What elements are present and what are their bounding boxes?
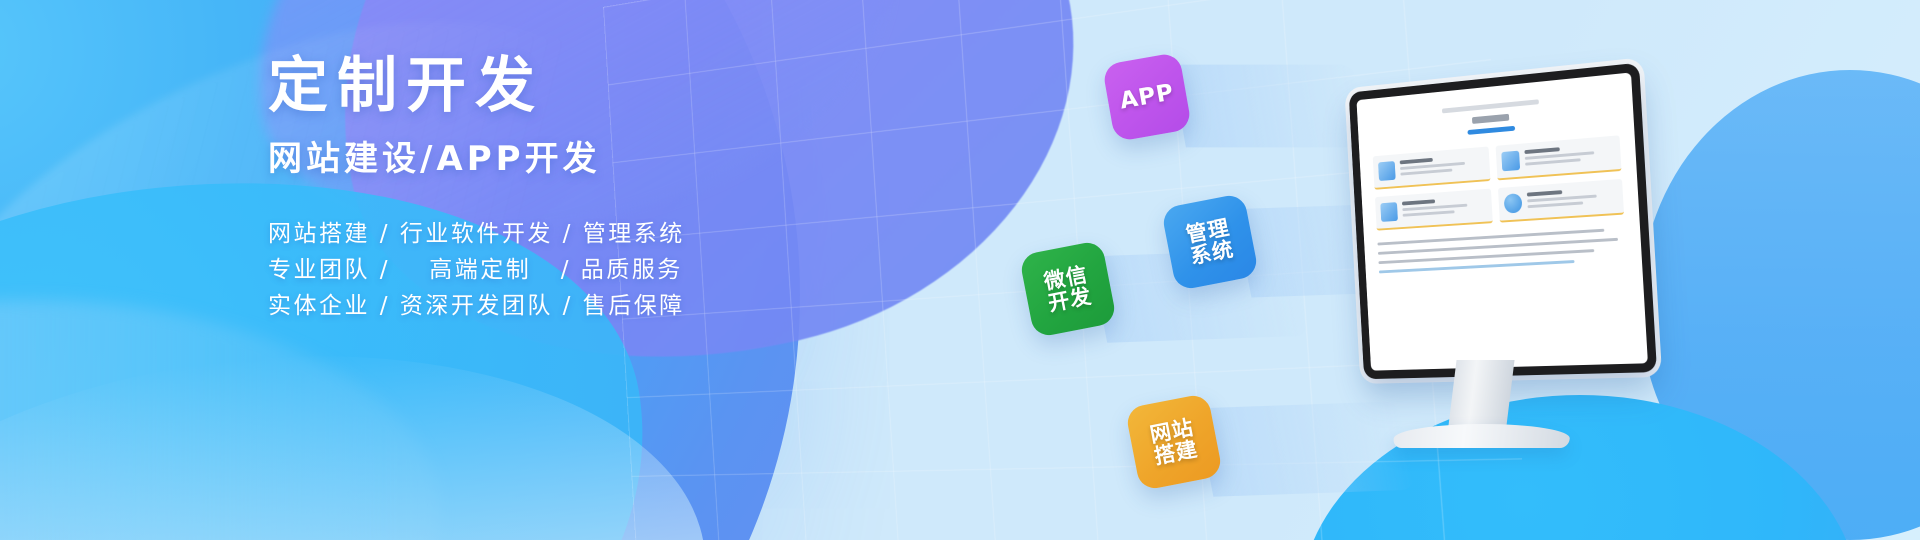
feature-text-placeholder — [1527, 186, 1618, 212]
website-feature-card — [1373, 146, 1491, 189]
website-header — [1371, 92, 1619, 144]
feature-text-placeholder — [1402, 196, 1487, 221]
feature-line: 专业团队 / 高端定制 / 品质服务 — [268, 252, 788, 288]
feature-text-placeholder — [1524, 143, 1615, 170]
service-card-web[interactable]: 网站搭建 — [1125, 393, 1223, 491]
monitor-screen — [1356, 72, 1647, 370]
website-nav-placeholder — [1442, 99, 1539, 113]
website-feature-card — [1496, 135, 1622, 180]
monitor-stand-neck — [1447, 360, 1514, 434]
page-title: 定制开发 — [268, 56, 788, 116]
chart-icon — [1380, 202, 1398, 222]
promo-banner: 定制开发 网站建设/APP开发 网站搭建 / 行业软件开发 / 管理系统 专业团… — [0, 0, 1920, 540]
website-feature-card — [1498, 179, 1624, 223]
feature-line: 网站搭建 / 行业软件开发 / 管理系统 — [268, 216, 788, 252]
service-card-mgmt[interactable]: 管理系统 — [1161, 193, 1259, 291]
feature-list: 网站搭建 / 行业软件开发 / 管理系统 专业团队 / 高端定制 / 品质服务 … — [268, 216, 788, 324]
tool-icon — [1378, 161, 1396, 181]
website-underline-accent — [1467, 126, 1515, 135]
globe-icon — [1504, 193, 1523, 214]
monitor-illustration — [1349, 63, 1657, 380]
network-icon — [1501, 151, 1520, 172]
page-subtitle: 网站建设/APP开发 — [268, 142, 788, 176]
website-paragraph-placeholder — [1377, 227, 1626, 273]
service-card-app[interactable]: APP — [1102, 52, 1192, 142]
website-card-grid — [1373, 135, 1624, 230]
feature-text-placeholder — [1400, 154, 1485, 180]
feature-line: 实体企业 / 资深开发团队 / 售后保障 — [268, 288, 788, 324]
service-card-wechat[interactable]: 微信开发 — [1019, 240, 1117, 338]
website-heading-placeholder — [1472, 114, 1509, 124]
website-feature-card — [1375, 189, 1493, 231]
headline-block: 定制开发 网站建设/APP开发 网站搭建 / 行业软件开发 / 管理系统 专业团… — [268, 56, 788, 324]
monitor-stand-base — [1393, 424, 1572, 448]
